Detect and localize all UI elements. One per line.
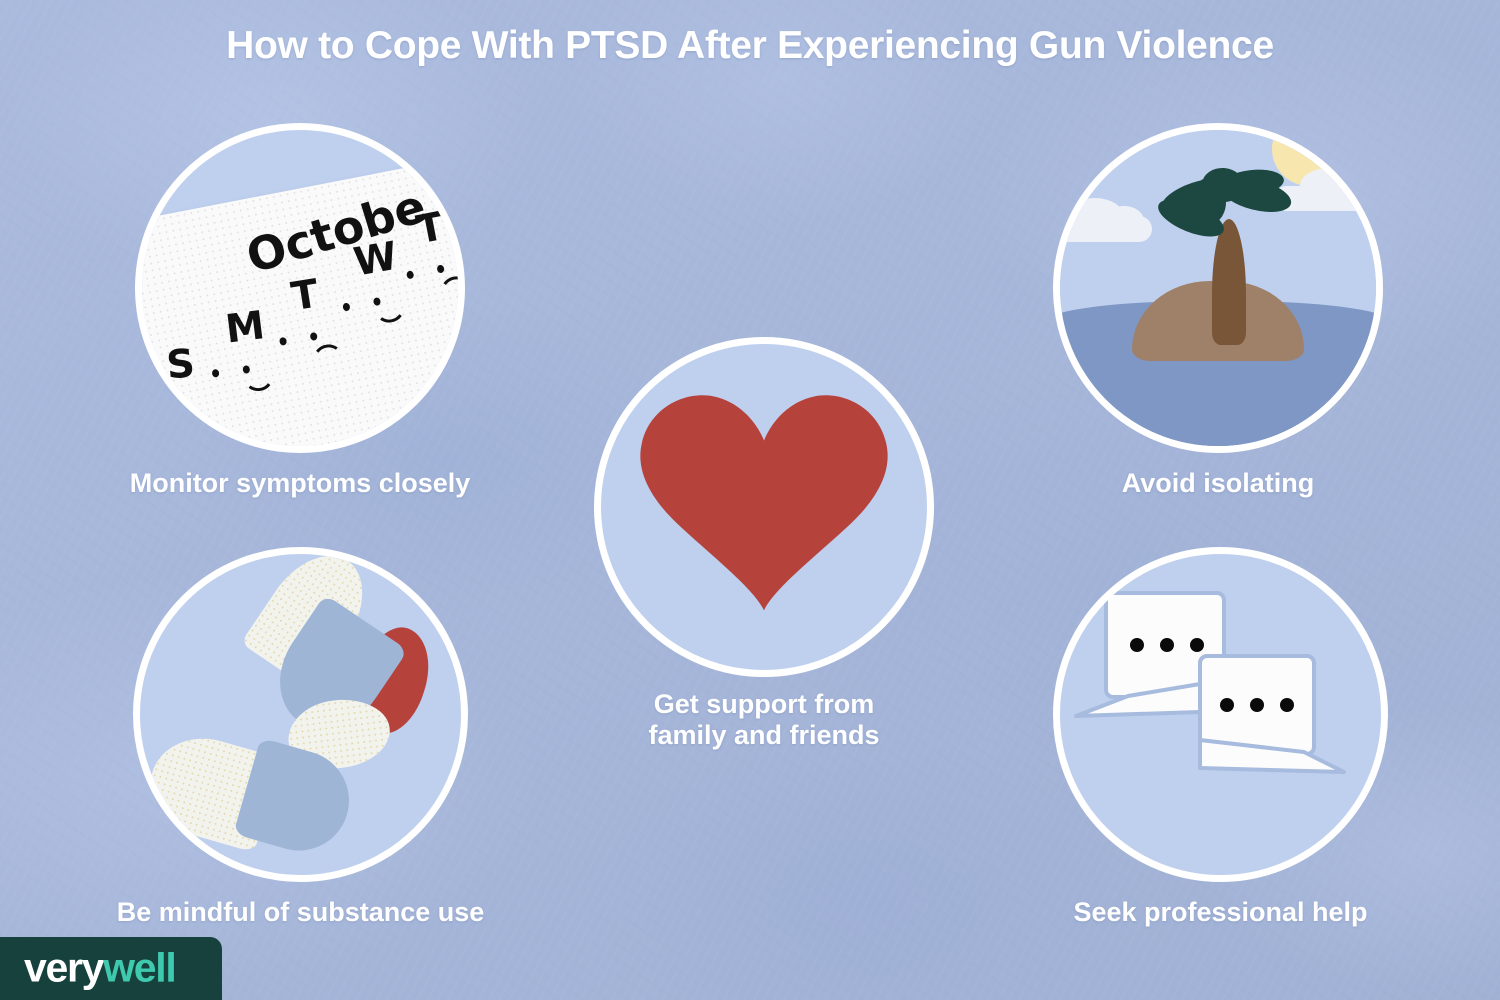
day-letter: S xyxy=(165,341,197,388)
heart-icon xyxy=(594,337,934,677)
caption-line-2: family and friends xyxy=(648,720,879,750)
day-letter: M xyxy=(223,303,267,352)
logo-text-well: well xyxy=(103,944,175,990)
calendar-day-4: T xyxy=(413,204,448,253)
cloud-left-puff2 xyxy=(1104,206,1144,236)
cloud-right-puff xyxy=(1300,168,1358,204)
heart-svg xyxy=(636,388,892,616)
typing-dots-secondary xyxy=(1220,698,1294,712)
calendar-paper: Octobe S M T xyxy=(135,153,465,453)
mood-calendar-icon: Octobe S M T xyxy=(135,123,465,453)
calendar-day-2: T xyxy=(288,272,321,321)
speech-bubble-secondary-tail xyxy=(1194,738,1354,780)
calendar-month-label: Octobe xyxy=(240,178,432,283)
calendar-day-3: W xyxy=(351,234,401,286)
speech-bubble-primary-tail xyxy=(1074,682,1214,722)
caption-avoid-isolating: Avoid isolating xyxy=(1122,468,1315,499)
item-avoid-isolating[interactable]: Avoid isolating xyxy=(1053,123,1383,453)
item-substance-use[interactable]: Be mindful of substance use xyxy=(133,547,468,882)
logo-text: verywell xyxy=(24,944,175,991)
calendar-day-0: S xyxy=(165,341,197,388)
item-monitor-symptoms[interactable]: Octobe S M T xyxy=(135,123,465,453)
caption-line-1: Get support from xyxy=(654,689,875,719)
calendar-day-1: M xyxy=(223,303,267,352)
page-title: How to Cope With PTSD After Experiencing… xyxy=(0,24,1500,68)
desert-island-palm-tree-icon xyxy=(1053,123,1383,453)
caption-get-support: Get support from family and friends xyxy=(554,689,974,751)
logo-text-very: very xyxy=(24,944,103,990)
item-professional-help[interactable]: Seek professional help xyxy=(1053,547,1388,882)
pills-capsules-icon xyxy=(133,547,468,882)
day-letter: T xyxy=(288,272,321,321)
typing-dots-primary xyxy=(1130,638,1204,652)
day-letter: W xyxy=(351,234,401,286)
verywell-logo[interactable]: verywell xyxy=(0,937,222,1000)
speech-bubbles-icon xyxy=(1053,547,1388,882)
caption-monitor-symptoms: Monitor symptoms closely xyxy=(130,468,471,499)
infographic-canvas: How to Cope With PTSD After Experiencing… xyxy=(0,0,1500,1000)
day-letter: T xyxy=(413,204,448,253)
caption-professional-help: Seek professional help xyxy=(1073,897,1367,928)
item-get-support[interactable]: Get support from family and friends xyxy=(594,337,934,677)
caption-substance-use: Be mindful of substance use xyxy=(117,897,485,928)
